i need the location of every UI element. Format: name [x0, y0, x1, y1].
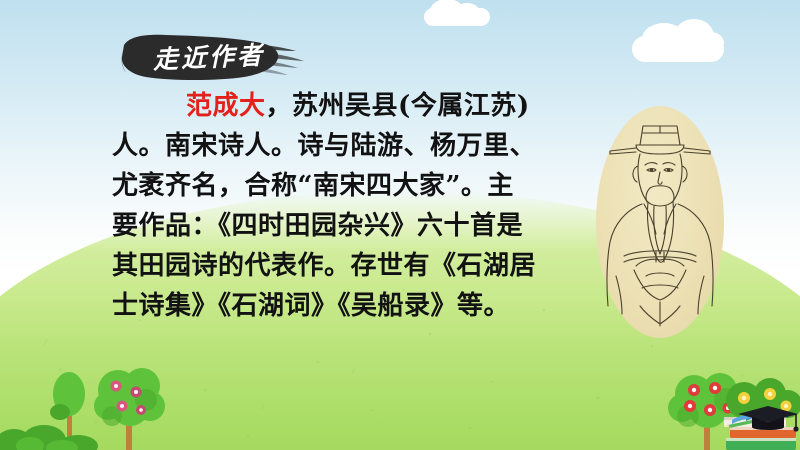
cloud-icon — [632, 36, 724, 62]
section-title-text: 走近作者 — [133, 37, 284, 80]
section-title-banner: 走近作者 — [120, 32, 308, 82]
cloud-icon — [424, 8, 490, 26]
poet-portrait — [596, 106, 724, 338]
text-line: 人。南宋诗人。诗与陆游、杨万里、 — [112, 126, 592, 166]
author-name-highlight: 范成大 — [186, 91, 266, 121]
text-line: 要作品：《四时田园杂兴》六十首是 — [112, 206, 592, 246]
text-line: 其田园诗的代表作。存世有《石湖居 — [112, 246, 592, 286]
text-line: 尤袤齐名，合称“南宋四大家”。主 — [112, 166, 592, 206]
text-line: 士诗集》《石湖词》《吴船录》等。 — [112, 286, 592, 326]
slide-canvas: 走近作者 范成大，苏州吴县(今属江苏) 人。南宋诗人。诗与陆游、杨万里、 尤袤齐… — [0, 0, 800, 450]
scholar-line-drawing-icon — [596, 106, 724, 338]
bush-left-icon — [0, 418, 150, 450]
text-line-rest: ，苏州吴县(今属江苏) — [266, 91, 530, 121]
book-stack-with-graduation-cap-icon — [722, 394, 800, 450]
text-line: 范成大，苏州吴县(今属江苏) — [112, 86, 592, 126]
author-biography-text: 范成大，苏州吴县(今属江苏) 人。南宋诗人。诗与陆游、杨万里、 尤袤齐名，合称“… — [112, 86, 592, 326]
